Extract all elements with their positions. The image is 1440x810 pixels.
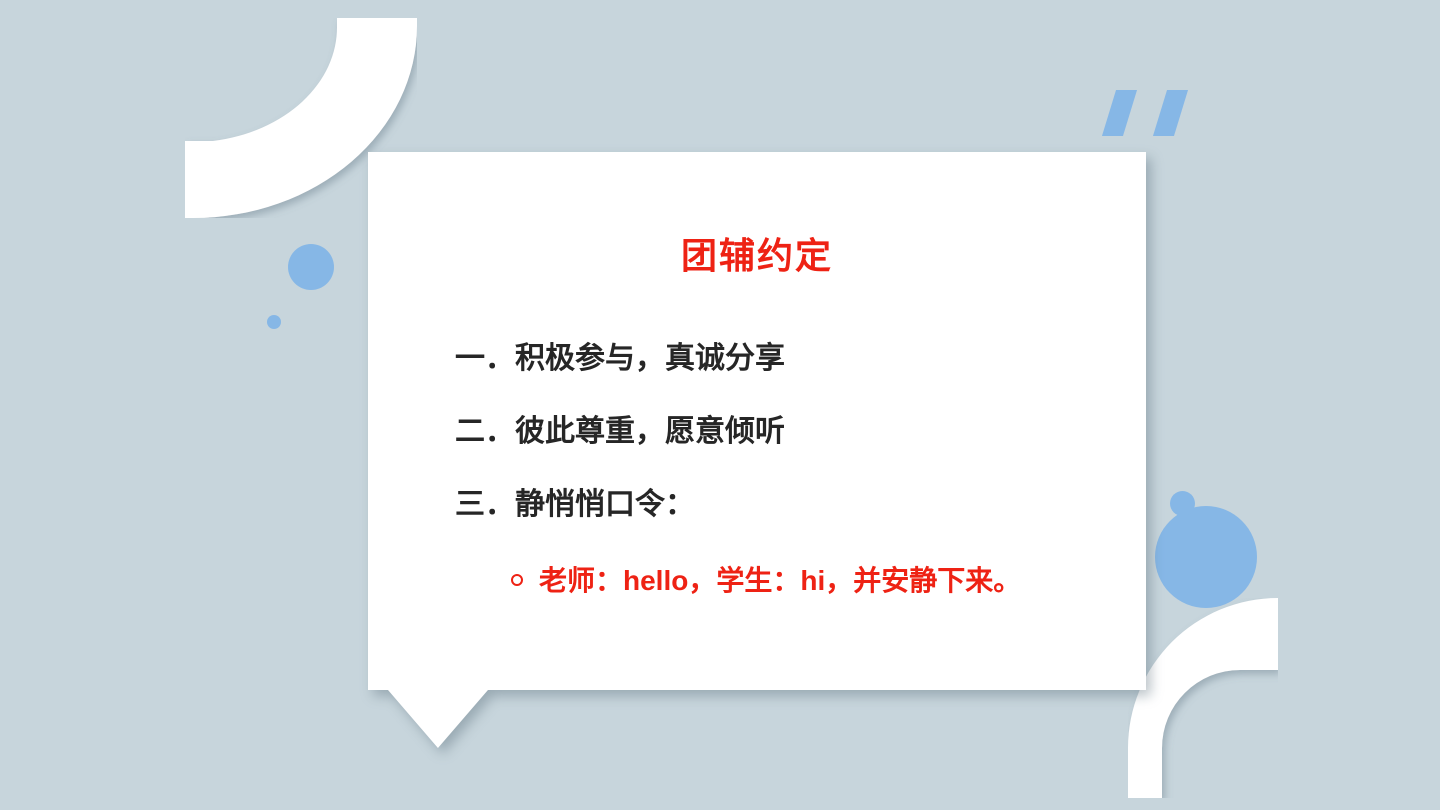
card-content: 团辅约定 一．积极参与，真诚分享 二．彼此尊重，愿意倾听 三．静悄悄口令： 老师… xyxy=(368,152,1146,690)
circle-outline-bullet-icon xyxy=(511,574,523,586)
quote-mark-bar-left xyxy=(1102,90,1137,136)
quote-mark-bar-right xyxy=(1153,90,1188,136)
list-item: 二．彼此尊重，愿意倾听 xyxy=(455,415,1115,448)
list-item-label: 积极参与，真诚分享 xyxy=(515,342,785,375)
sub-list-item: 老师：hello，学生：hi，并安静下来。 xyxy=(503,561,1091,601)
list-item-number: 一． xyxy=(455,342,515,375)
list-item-number: 二． xyxy=(455,415,515,448)
sub-list-item-label: 老师：hello，学生：hi，并安静下来。 xyxy=(539,565,1021,596)
list-item-label: 静悄悄口令： xyxy=(515,488,695,521)
decorative-dot-large-left xyxy=(288,244,334,290)
agreement-list: 一．积极参与，真诚分享 二．彼此尊重，愿意倾听 三．静悄悄口令： 老师：hell… xyxy=(455,342,1115,601)
quote-mark-icon xyxy=(1103,90,1199,138)
list-item: 一．积极参与，真诚分享 xyxy=(455,342,1115,375)
decorative-dot-large-right xyxy=(1155,506,1257,608)
decorative-dot-small-left xyxy=(267,315,281,329)
list-item: 三．静悄悄口令： xyxy=(455,488,1115,521)
slide-canvas: 团辅约定 一．积极参与，真诚分享 二．彼此尊重，愿意倾听 三．静悄悄口令： 老师… xyxy=(0,0,1440,810)
list-item-label: 彼此尊重，愿意倾听 xyxy=(515,415,785,448)
card-title: 团辅约定 xyxy=(368,236,1146,276)
decorative-dot-small-right xyxy=(1170,491,1195,516)
arc-bottom-right-icon xyxy=(1128,598,1278,798)
speech-bubble-card: 团辅约定 一．积极参与，真诚分享 二．彼此尊重，愿意倾听 三．静悄悄口令： 老师… xyxy=(368,152,1146,748)
list-item-number: 三． xyxy=(455,488,515,521)
